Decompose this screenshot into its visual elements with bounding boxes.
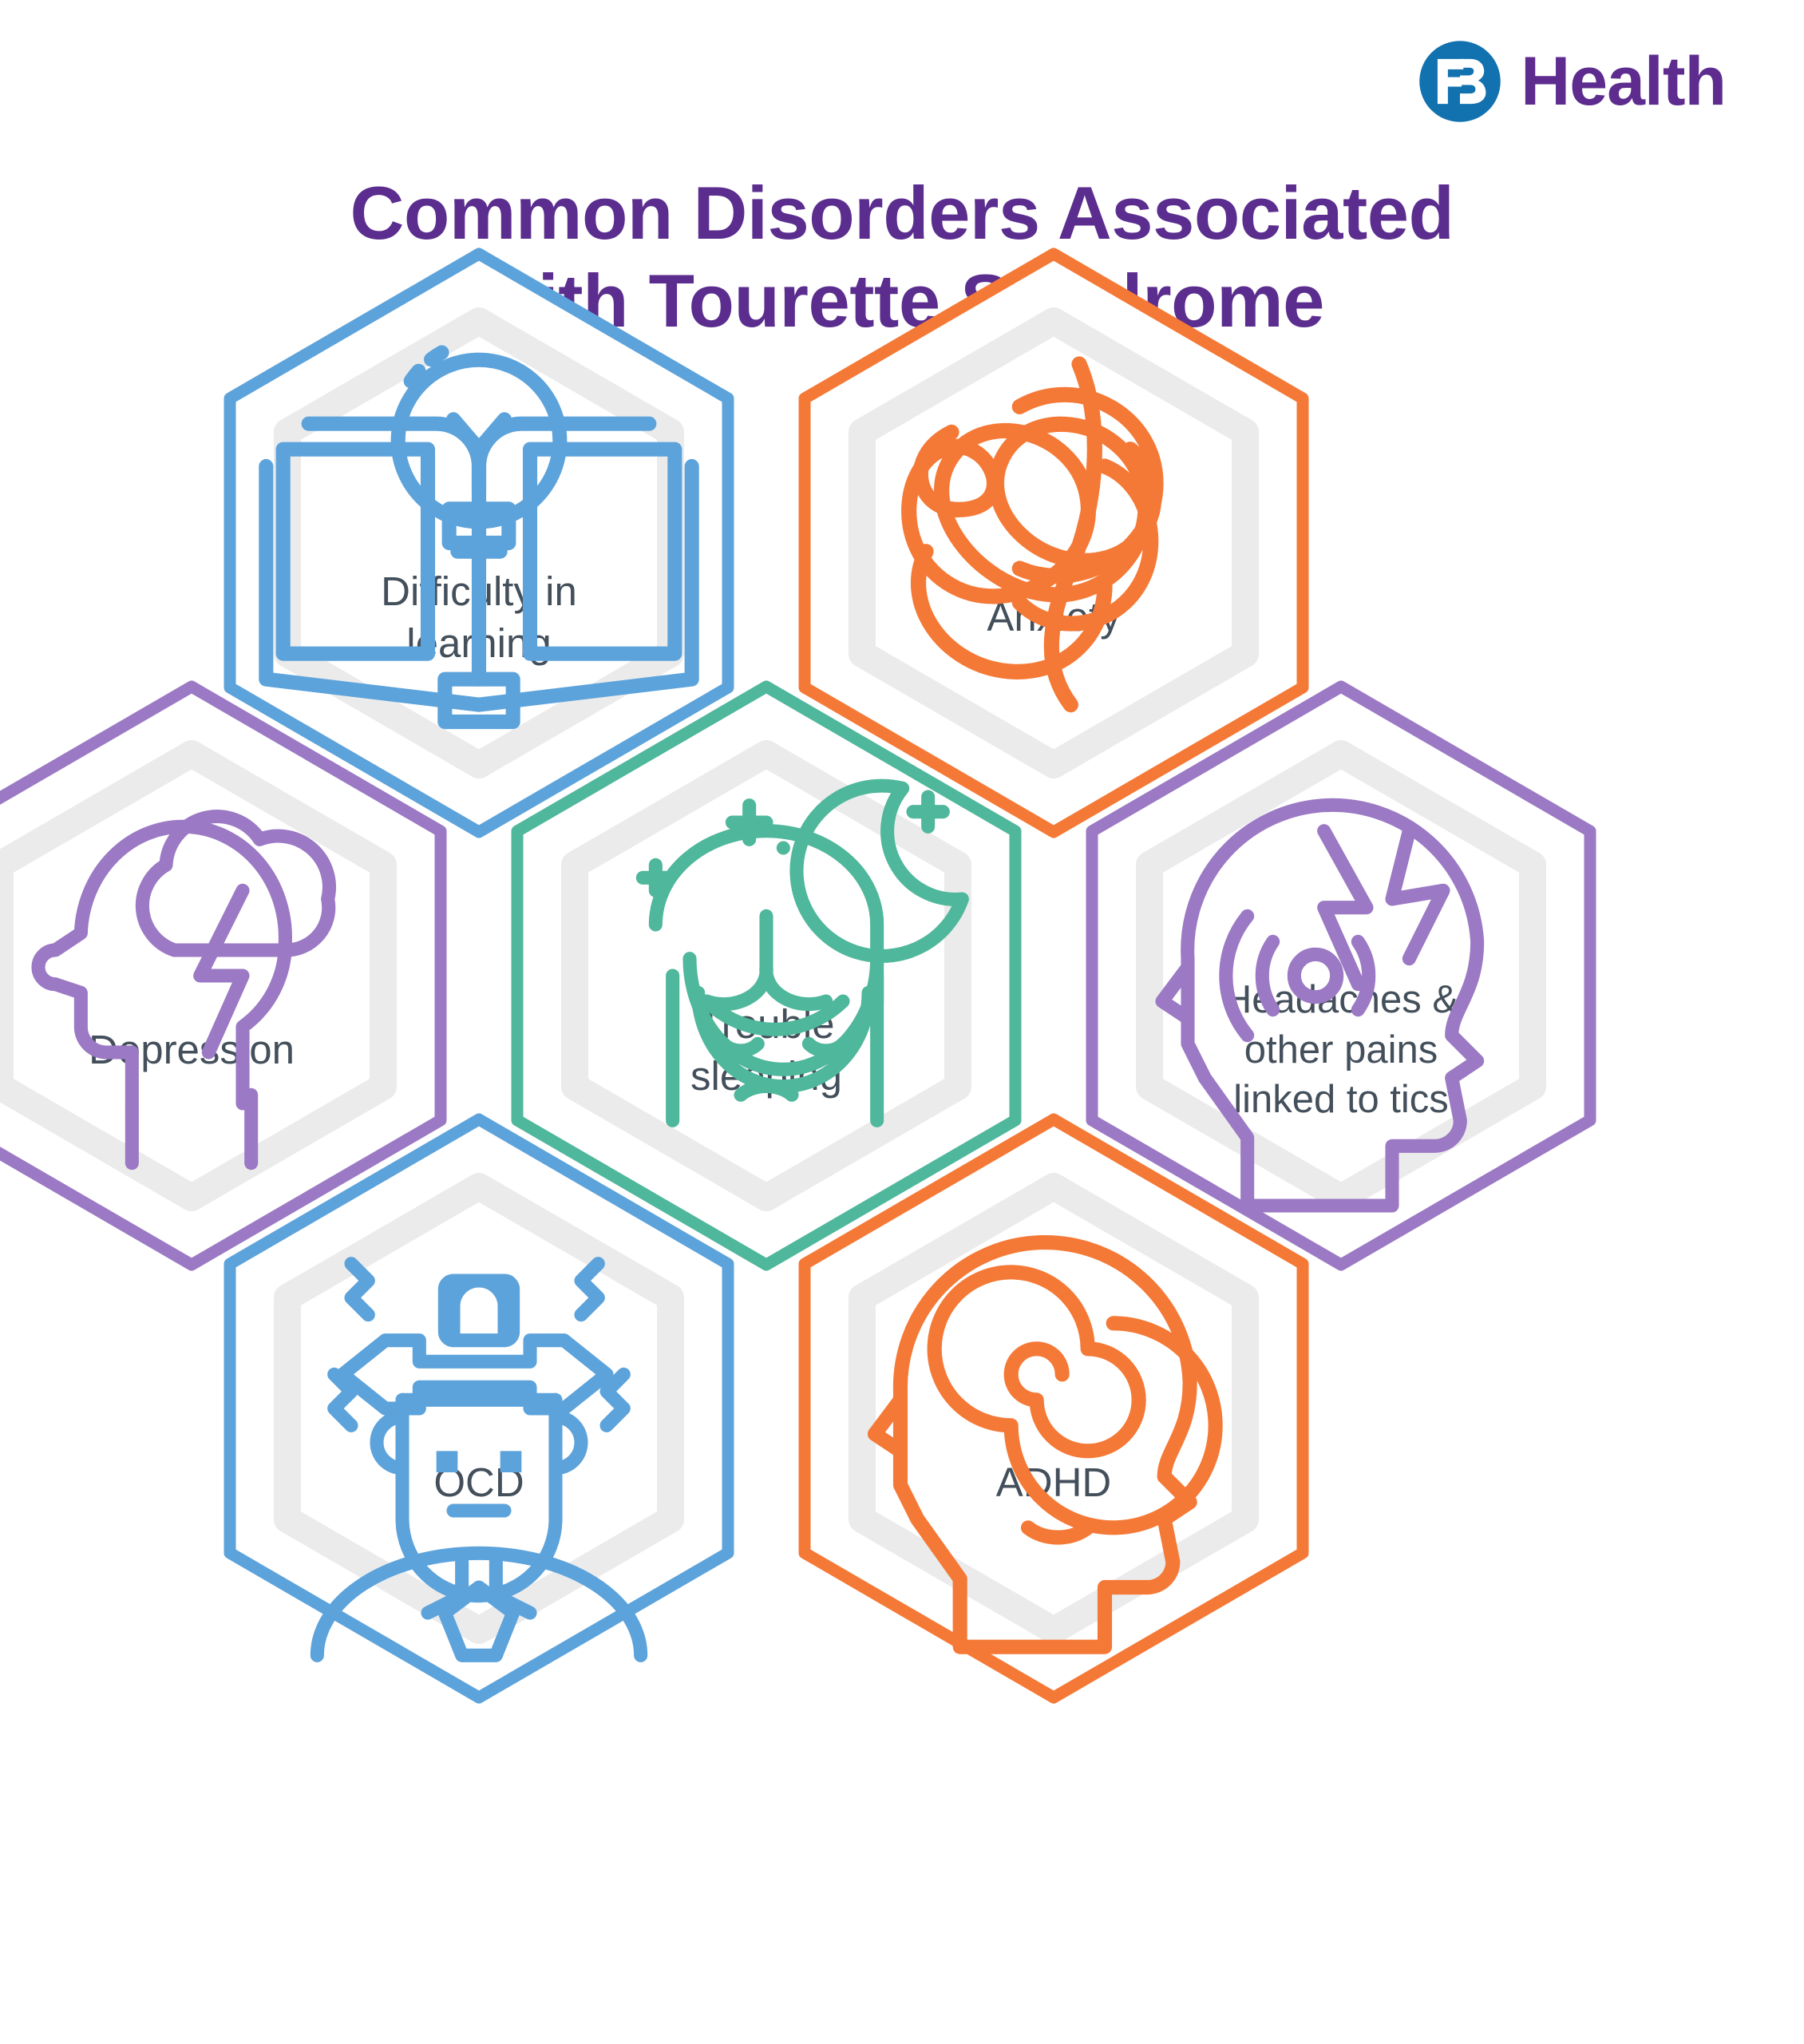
- hex-cell-ocd[interactable]: OCD: [224, 1113, 734, 1704]
- hexagon-grid: Difficulty in learning Anxiety: [0, 399, 1804, 2044]
- brand-logo: Health: [1417, 38, 1726, 125]
- hexagon-outline: [798, 1113, 1309, 1704]
- hexagon-outline: [224, 1113, 734, 1704]
- brand-wordmark: Health: [1521, 47, 1726, 116]
- hex-cell-adhd[interactable]: ADHD: [798, 1113, 1309, 1704]
- bajaj-finserv-b-logo-icon: [1417, 38, 1503, 125]
- infographic-page: Health Common Disorders Associated with …: [0, 0, 1804, 2044]
